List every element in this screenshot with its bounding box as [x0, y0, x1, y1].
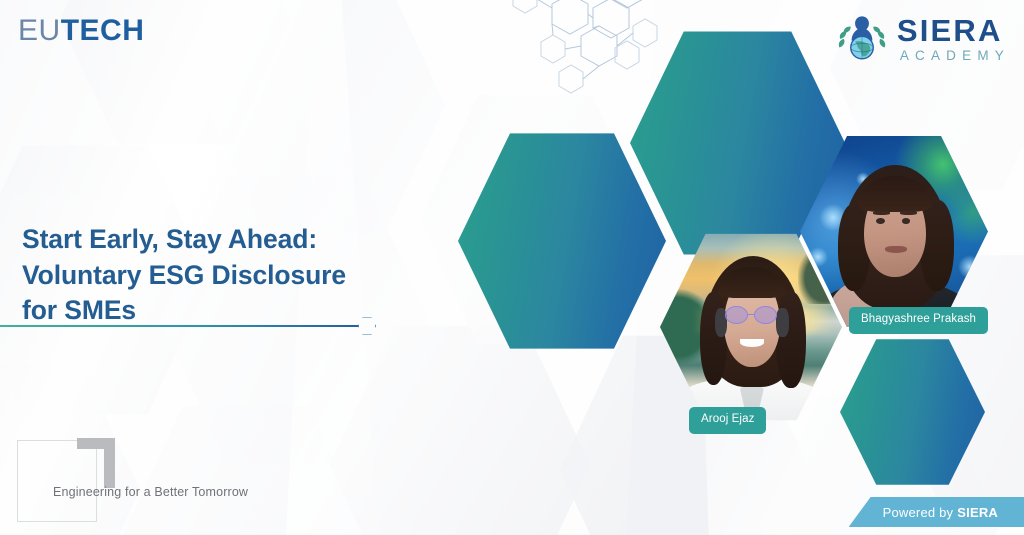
title-divider	[0, 316, 380, 336]
eutech-tagline: Engineering for a Better Tomorrow	[53, 485, 248, 499]
speaker-name-badge: Bhagyashree Prakash	[849, 307, 988, 334]
hexagon-outline-icon	[358, 317, 376, 335]
eutech-square-corner-mark	[17, 440, 97, 522]
hex-tile-bottom-right	[840, 337, 985, 487]
powered-by-badge: Powered by SIERA	[849, 497, 1024, 527]
siera-woman-globe-leaves-icon	[836, 12, 888, 64]
headline-line-2: Voluntary ESG Disclosure	[22, 258, 422, 294]
headline-line-1: Start Early, Stay Ahead:	[22, 222, 422, 258]
powered-by-brand: SIERA	[957, 505, 998, 520]
webinar-promo-slide: EUTECH SIERA ACADEMY Start Early,	[0, 0, 1024, 535]
powered-by-prefix: Powered by	[883, 505, 954, 520]
hex-tile-left	[458, 130, 666, 352]
divider-rule	[0, 325, 360, 327]
siera-logo-name: SIERA	[897, 15, 1010, 46]
eutech-logo: EUTECH	[18, 16, 144, 46]
page-title: Start Early, Stay Ahead: Voluntary ESG D…	[22, 222, 422, 329]
siera-logo-subtitle: ACADEMY	[897, 49, 1010, 63]
eutech-logo-tech: TECH	[61, 14, 145, 47]
siera-academy-logo: SIERA ACADEMY	[836, 12, 1010, 64]
eutech-logo-eu: EU	[18, 14, 61, 47]
speaker-name-badge: Arooj Ejaz	[689, 407, 766, 434]
